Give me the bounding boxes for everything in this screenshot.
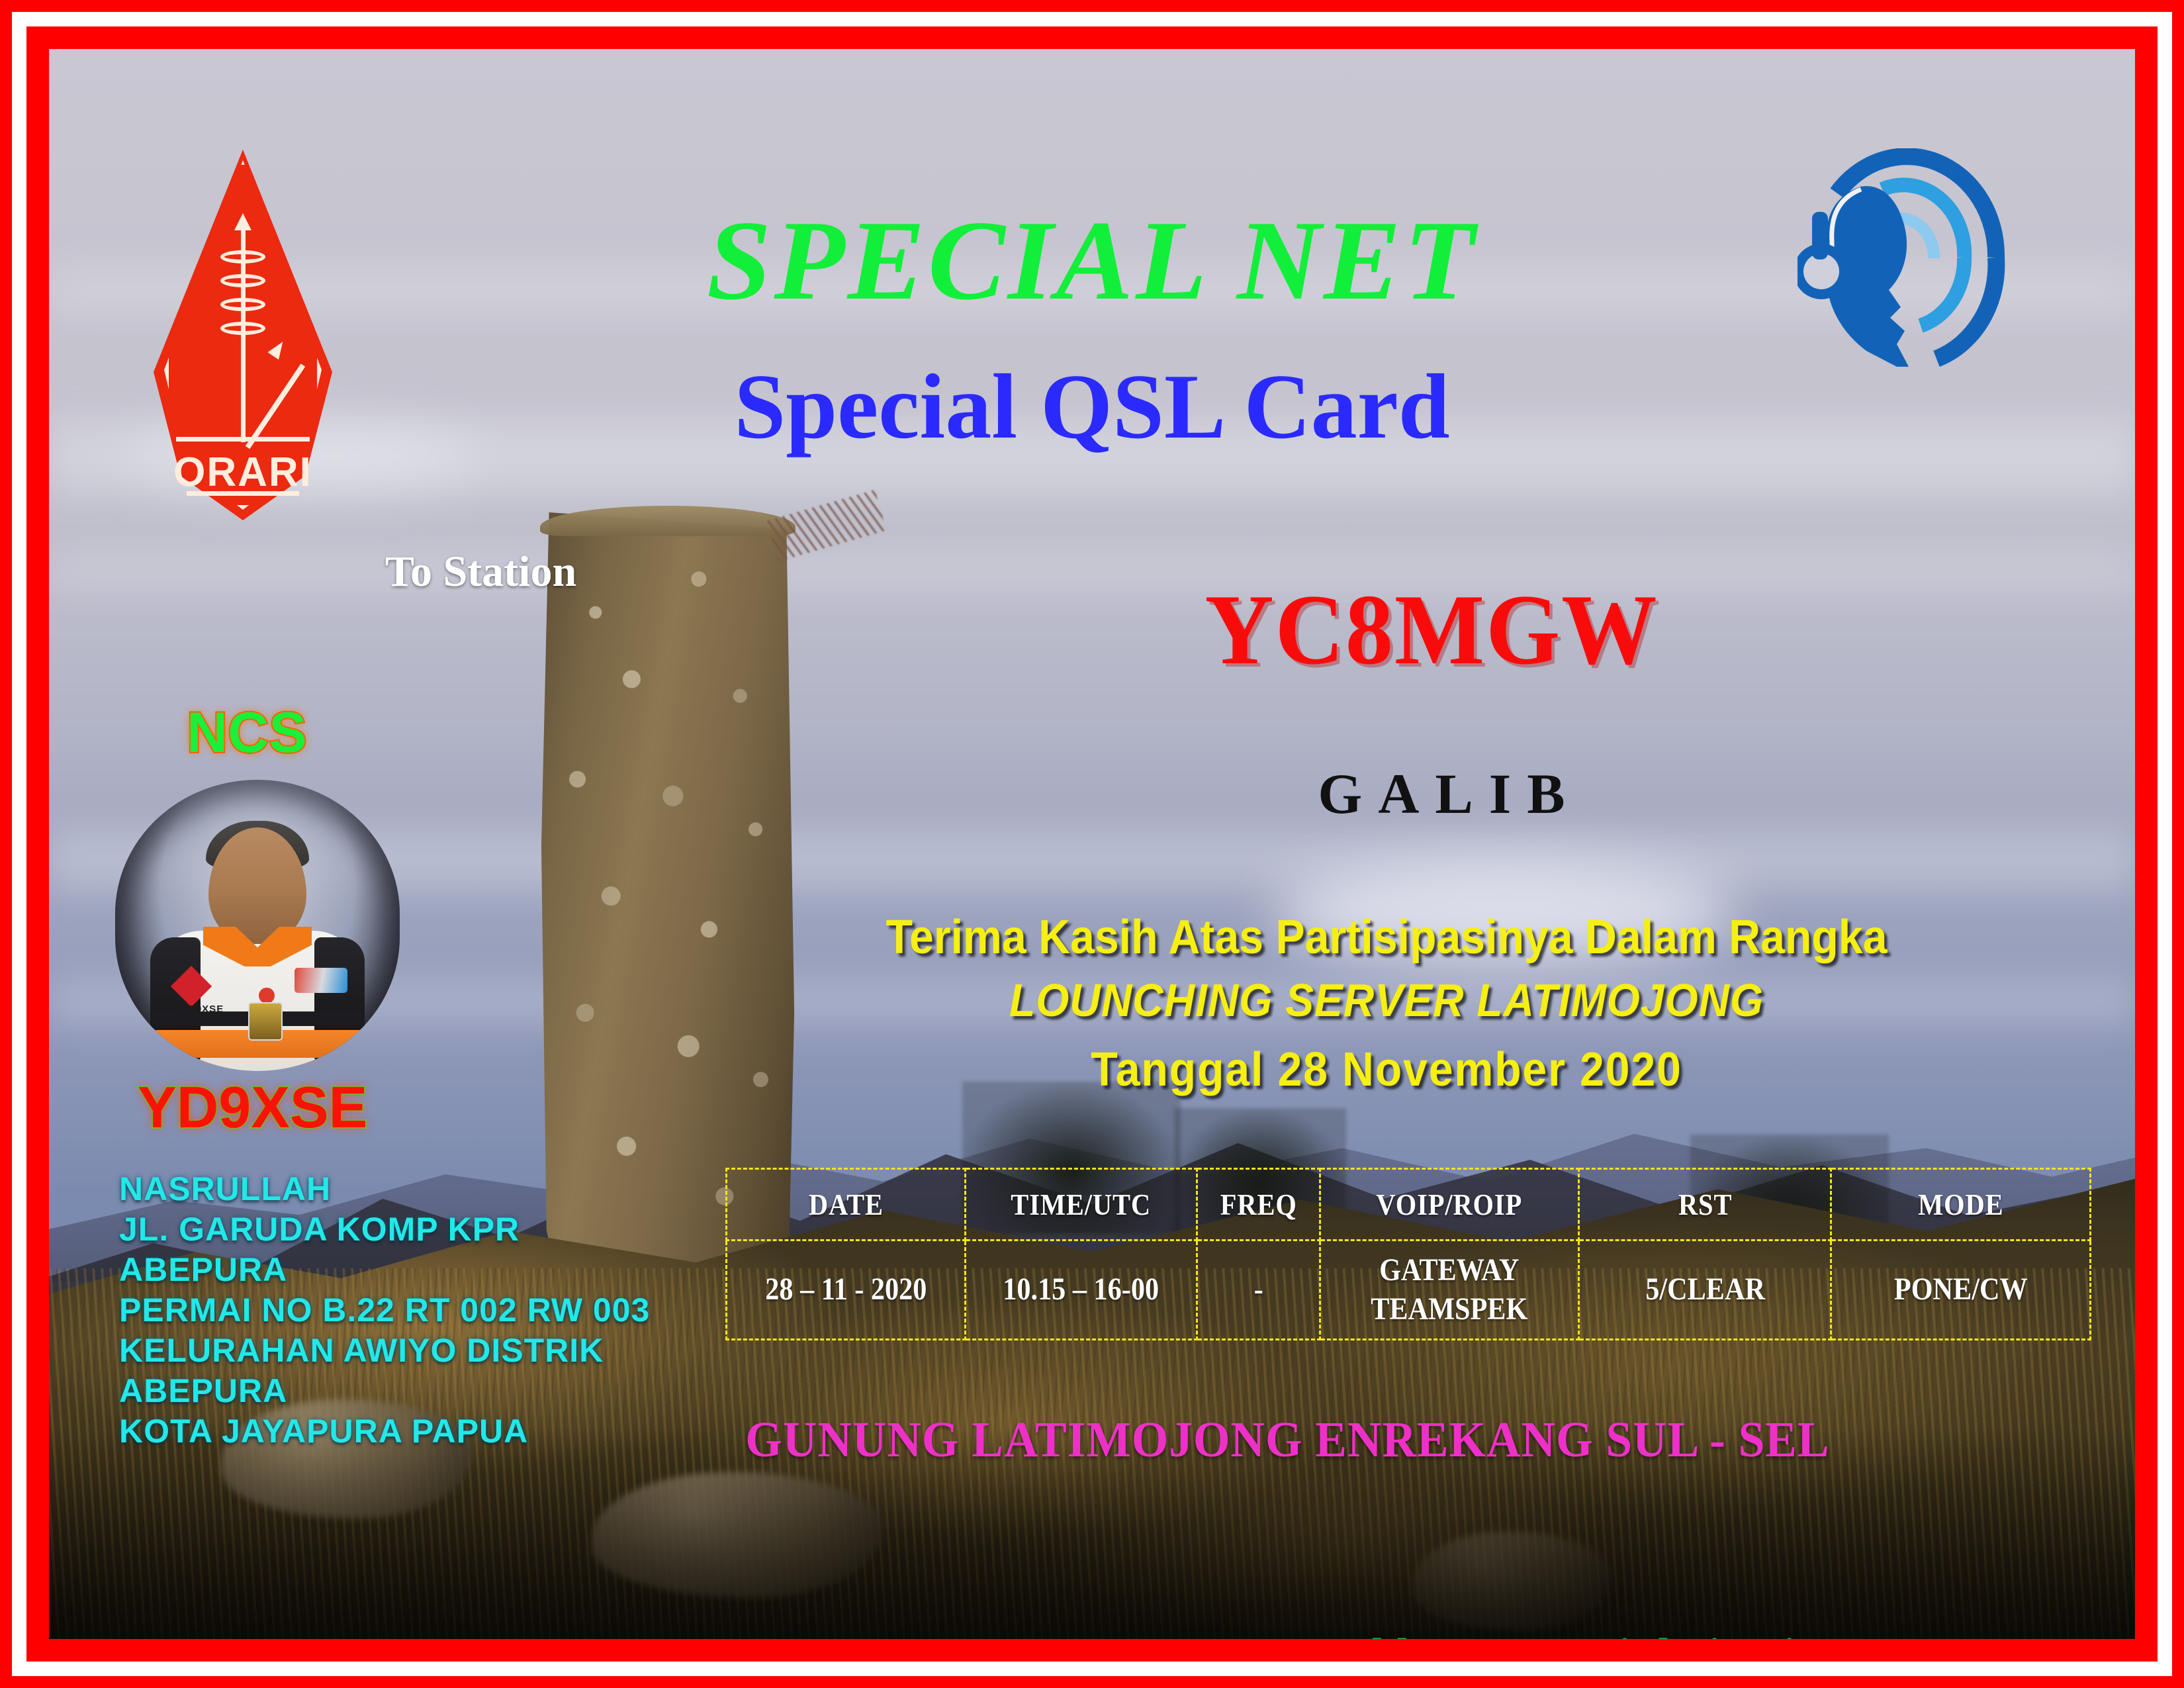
cell-voip: GATEWAY TEAMSPEK (1336, 1241, 1564, 1340)
address-line: KELURAHAN AWIYO DISTRIK (119, 1331, 741, 1371)
page-subtitle: Special QSL Card (49, 353, 2135, 460)
column-header-date: DATE (741, 1169, 950, 1241)
avatar-id-card (248, 1002, 283, 1041)
event-date-line: Tanggal 28 November 2020 (801, 1035, 1972, 1104)
station-operator-name: GALIB (49, 761, 2135, 827)
address-line: ABEPURA (119, 1371, 741, 1411)
column-header-time: TIME/UTC (979, 1169, 1183, 1241)
avatar-callsign-tag: YD9XSE (181, 1004, 224, 1015)
avatar-id-clip (259, 988, 275, 1004)
event-thanks-line: Terima Kasih Atas Partisipasinya Dalam R… (801, 910, 1972, 966)
operator-address: NASRULLAH JL. GARUDA KOMP KPR ABEPURA PE… (119, 1169, 741, 1452)
orari-divider-line (187, 491, 299, 496)
address-line: PERMAI NO B.22 RT 002 RW 003 (119, 1290, 741, 1331)
event-location: GUNUNG LATIMOJONG ENREKANG SUL - SEL (745, 1411, 1829, 1469)
event-message: Terima Kasih Atas Partisipasinya Dalam R… (801, 910, 1972, 1104)
footer-address: Address : amatir.latimojong.com (1326, 1628, 1957, 1639)
event-name-line: LOUNCHING SERVER LATIMOJONG (801, 966, 1972, 1035)
card-photo-area: ORARI SPECIAL NET (49, 49, 2135, 1639)
content-layer: ORARI SPECIAL NET (49, 49, 2135, 1639)
qso-table: DATE TIME/UTC FREQ VOIP/ROIP RST MODE 28… (725, 1168, 2091, 1340)
avatar-chest-patch (295, 968, 347, 993)
ncs-role-label: NCS (187, 700, 307, 766)
cell-time: 10.15 – 16-00 (979, 1241, 1183, 1340)
footer-slogan: "AMATIR RADIO ADALAH PROGRESIVE" (126, 1628, 1015, 1639)
page-title: SPECIAL NET (49, 196, 2135, 326)
table-header-row: DATE TIME/UTC FREQ VOIP/ROIP RST MODE (727, 1169, 2091, 1241)
address-line: NASRULLAH (119, 1169, 741, 1209)
column-header-voip: VOIP/ROIP (1336, 1169, 1564, 1241)
cell-mode: PONE/CW (1846, 1241, 2075, 1340)
table-row: 28 – 11 - 2020 10.15 – 16-00 - GATEWAY T… (727, 1241, 2091, 1340)
cell-freq: - (1205, 1241, 1312, 1340)
column-header-rst: RST (1594, 1169, 1816, 1241)
address-line: JL. GARUDA KOMP KPR (119, 1209, 741, 1250)
operator-avatar: YD9XSE (115, 780, 400, 1071)
cell-date: 28 – 11 - 2020 (741, 1241, 950, 1340)
cell-rst: 5/CLEAR (1594, 1241, 1816, 1340)
qsl-card: ORARI SPECIAL NET (0, 0, 2184, 1688)
operator-callsign: YD9XSE (138, 1074, 367, 1141)
station-callsign: YC8MGW (101, 572, 2083, 687)
column-header-freq: FREQ (1205, 1169, 1312, 1241)
address-line: KOTA JAYAPURA PAPUA (119, 1411, 741, 1452)
address-line: ABEPURA (119, 1250, 741, 1290)
column-header-mode: MODE (1846, 1169, 2075, 1241)
